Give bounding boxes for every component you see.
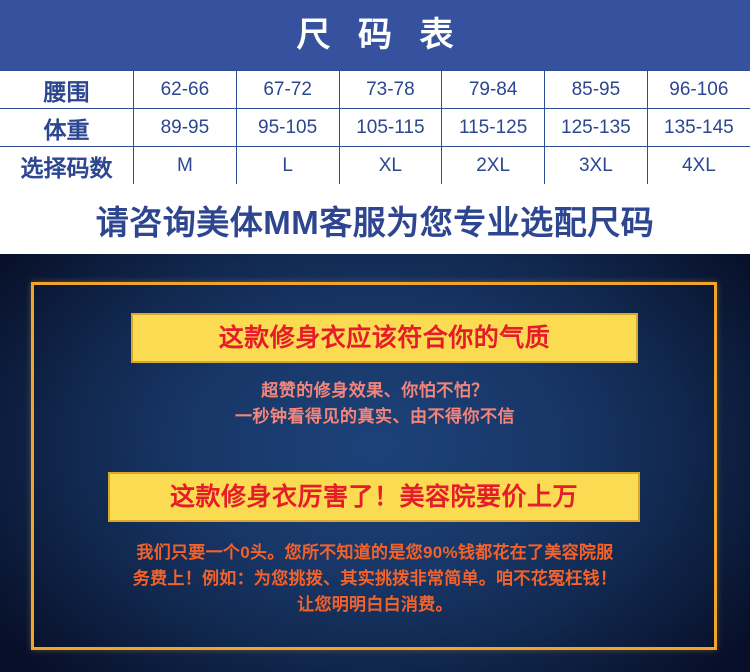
promo-body-2: 我们只要一个0头。您所不知道的是您90%钱都花在了美容院服 务费上！例如：为您挑… <box>66 540 684 618</box>
waist-cell-1: 62-66 <box>134 71 237 109</box>
waist-cell-6: 96-106 <box>647 71 750 109</box>
title-banner: 尺 码 表 <box>0 0 750 70</box>
promo-body-1-line-1: 超赞的修身效果、你怕不怕？ <box>0 378 750 404</box>
weight-cell-6: 135-145 <box>647 109 750 147</box>
table-row: 体重 89-95 95-105 105-115 115-125 125-135 … <box>0 109 750 147</box>
weight-cell-3: 105-115 <box>339 109 442 147</box>
waist-cell-5: 85-95 <box>545 71 648 109</box>
promo-callout-1: 这款修身衣应该符合你的气质 <box>131 313 638 363</box>
product-size-chart-page: 尺 码 表 腰围 62-66 67-72 73-78 79-84 85-95 9… <box>0 0 750 672</box>
consult-service-headline: 请咨询美体MM客服为您专业选配尺码 <box>0 192 750 254</box>
size-chart-table: 腰围 62-66 67-72 73-78 79-84 85-95 96-106 … <box>0 70 750 184</box>
size-cell-4: 2XL <box>442 147 545 185</box>
promo-body-2-line-3: 让您明明白白消费。 <box>66 592 684 618</box>
promo-body-2-line-2: 务费上！例如：为您挑拨、其实挑拨非常简单。咱不花冤枉钱！ <box>66 566 684 592</box>
weight-cell-2: 95-105 <box>236 109 339 147</box>
size-cell-5: 3XL <box>545 147 648 185</box>
waist-cell-4: 79-84 <box>442 71 545 109</box>
size-cell-6: 4XL <box>647 147 750 185</box>
waist-cell-3: 73-78 <box>339 71 442 109</box>
promo-body-2-line-1: 我们只要一个0头。您所不知道的是您90%钱都花在了美容院服 <box>66 540 684 566</box>
page-title: 尺 码 表 <box>0 0 750 70</box>
weight-cell-5: 125-135 <box>545 109 648 147</box>
table-row: 选择码数 M L XL 2XL 3XL 4XL <box>0 147 750 185</box>
row-label-size: 选择码数 <box>0 147 134 185</box>
row-label-waist: 腰围 <box>0 71 134 109</box>
size-cell-1: M <box>134 147 237 185</box>
promo-body-1: 超赞的修身效果、你怕不怕？ 一秒钟看得见的真实、由不得你不信 <box>0 378 750 430</box>
promo-body-1-line-2: 一秒钟看得见的真实、由不得你不信 <box>0 404 750 430</box>
weight-cell-4: 115-125 <box>442 109 545 147</box>
waist-cell-2: 67-72 <box>236 71 339 109</box>
weight-cell-1: 89-95 <box>134 109 237 147</box>
row-label-weight: 体重 <box>0 109 134 147</box>
promo-callout-2: 这款修身衣厉害了！美容院要价上万 <box>108 472 640 522</box>
table-row: 腰围 62-66 67-72 73-78 79-84 85-95 96-106 <box>0 71 750 109</box>
size-cell-3: XL <box>339 147 442 185</box>
size-cell-2: L <box>236 147 339 185</box>
